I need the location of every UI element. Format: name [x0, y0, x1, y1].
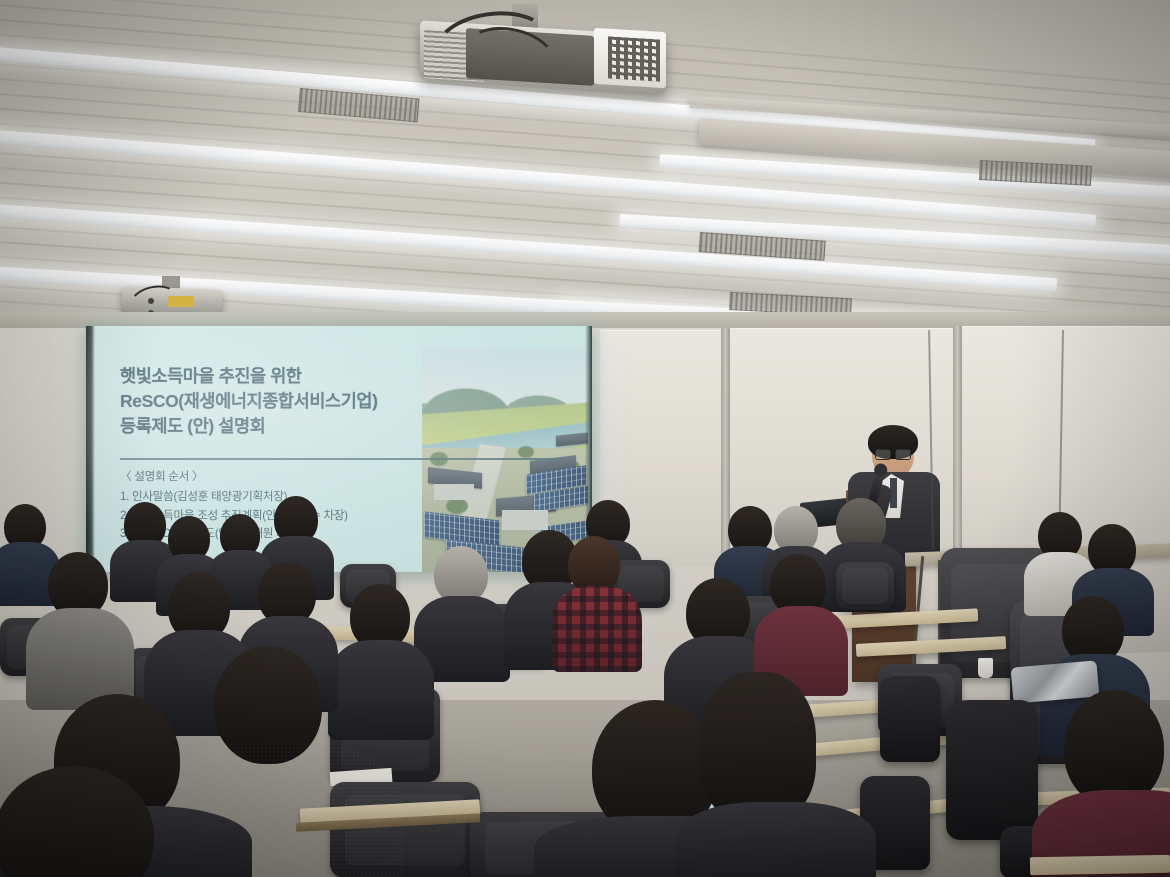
ceiling-projector-main [420, 18, 666, 90]
agenda-heading: 〈 설명회 순서 〉 [120, 468, 540, 487]
slide-divider-rule [120, 458, 560, 460]
shoulders [676, 802, 876, 877]
audience-member [36, 552, 124, 702]
slide-title-line-2: ReSCO(재생에너지종합서비스기업) [120, 389, 450, 414]
backpack [880, 676, 940, 762]
shoulders [552, 586, 642, 672]
slide-title: 햇빛소득마을 추진을 위한 ReSCO(재생에너지종합서비스기업) 등록제도 (… [120, 364, 450, 439]
photo-tree [518, 446, 534, 458]
lecture-hall-photo: 햇빛소득마을 추진을 위한 ReSCO(재생에너지종합서비스기업) 등록제도 (… [0, 0, 1170, 877]
head [1064, 690, 1164, 806]
head [700, 672, 816, 822]
whiteboard-divider [953, 326, 962, 576]
audience-member-foreground [694, 672, 854, 877]
slide-title-line-1: 햇빛소득마을 추진을 위한 [120, 364, 450, 389]
head [0, 766, 154, 877]
lecture-chair [836, 562, 894, 610]
slide-title-line-3: 등록제도 (안) 설명회 [120, 414, 450, 439]
audience-member [760, 554, 838, 688]
agenda-item: 1. 인사말씀(김성훈 태양광기획처장) [120, 488, 540, 507]
glasses-icon [875, 449, 911, 458]
audience-member [420, 546, 502, 676]
backpack [946, 700, 1038, 840]
projector-vent [608, 36, 660, 81]
audience-member-foreground [1054, 690, 1170, 877]
paper-cup [978, 658, 993, 678]
audience-member [556, 536, 632, 662]
audience-member-foreground [0, 766, 200, 877]
desk-row [1030, 855, 1170, 875]
